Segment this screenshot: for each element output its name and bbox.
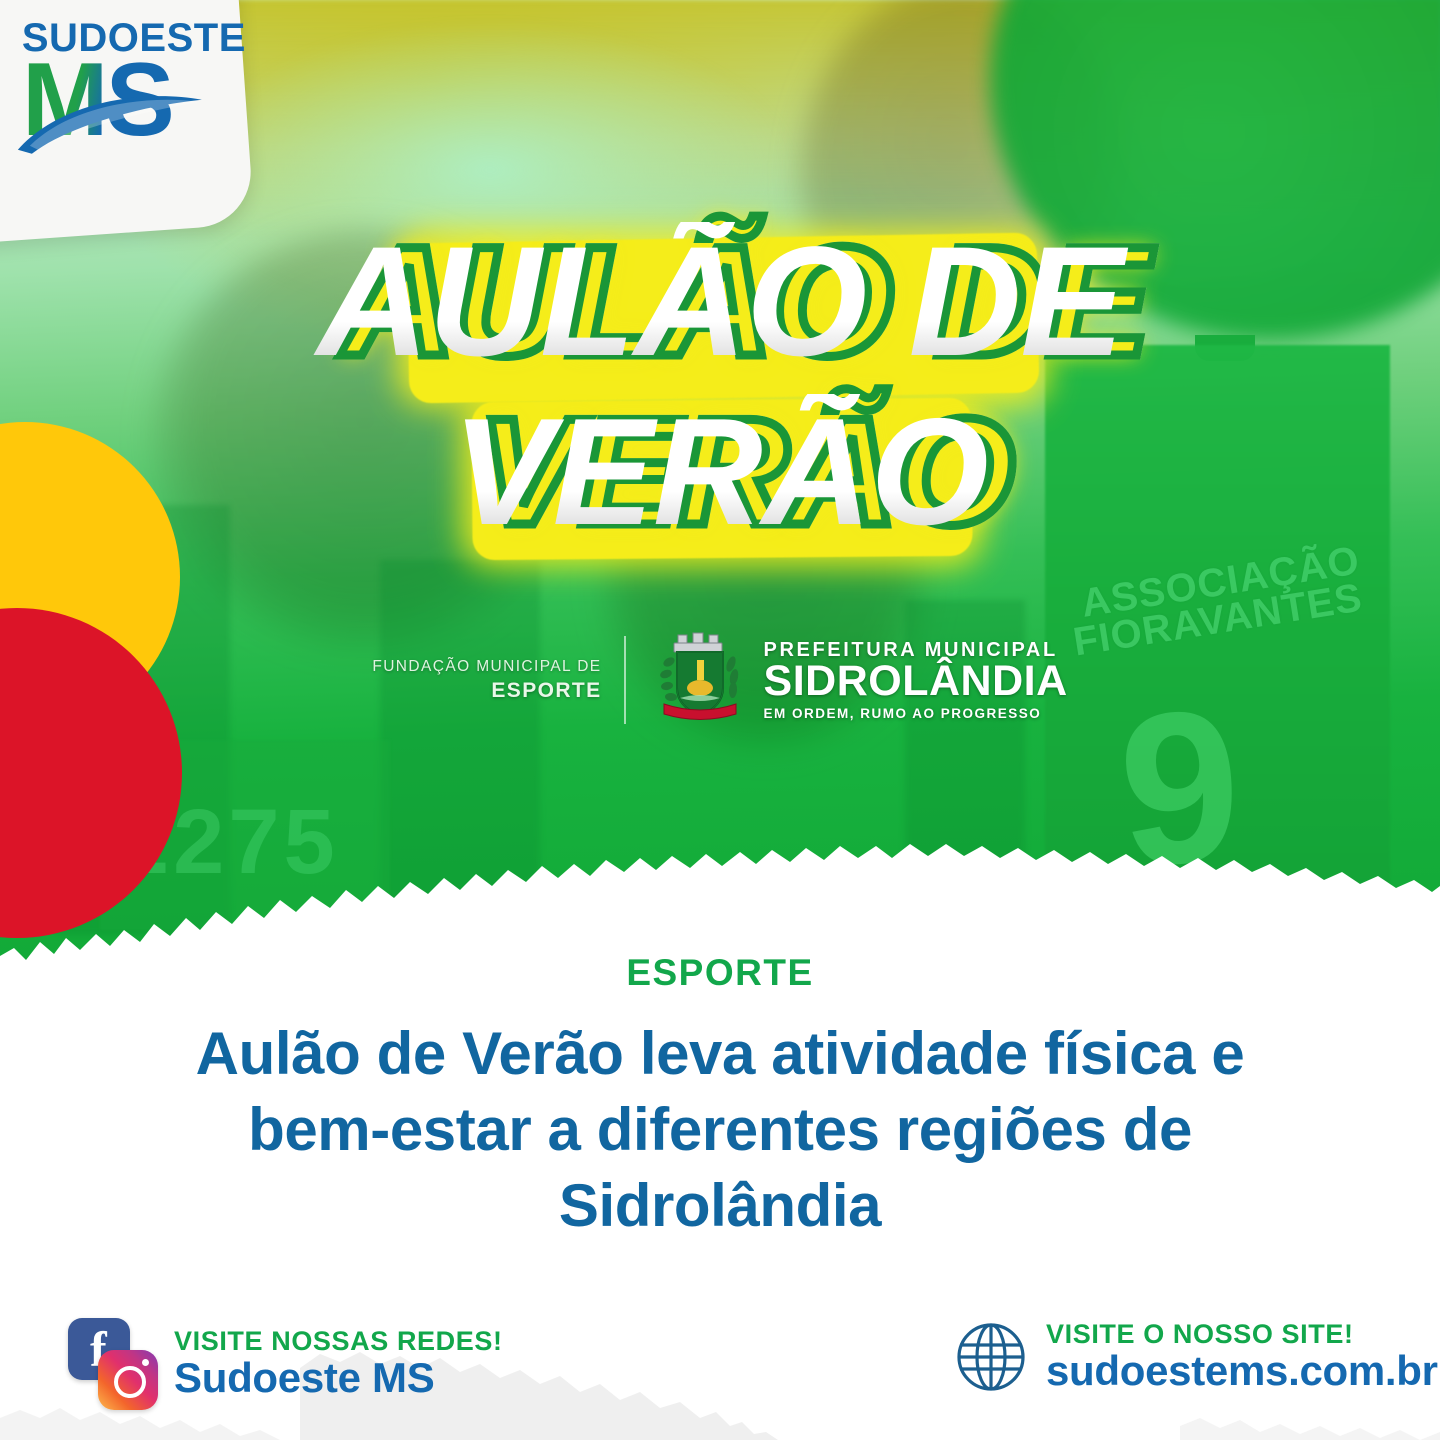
foundation-line-2: ESPORTE: [372, 679, 601, 703]
article-kicker: ESPORTE: [0, 952, 1440, 994]
logo-content: SUDOESTE MS: [22, 18, 246, 164]
title-line-2: VERÃO: [426, 394, 1014, 562]
website-call-to-action: VISITE O NOSSO SITE!: [1046, 1321, 1438, 1349]
city-motto: EM ORDEM, RUMO AO PROGRESSO: [764, 706, 1068, 721]
social-media-block[interactable]: f VISITE NOSSAS REDES! Sudoeste MS: [62, 1316, 503, 1412]
city-hall-logo: PREFEITURA MUNICIPAL SIDROLÂNDIA EM ORDE…: [764, 639, 1068, 721]
logo-divider: [624, 636, 626, 724]
sports-foundation-logo: FUNDAÇÃO MUNICIPAL DE ESPORTE: [372, 658, 623, 703]
social-handle: Sudoeste MS: [174, 1357, 503, 1400]
title-line-2-row: VERÃO VERÃO: [0, 394, 1440, 562]
social-text: VISITE NOSSAS REDES! Sudoeste MS: [174, 1328, 503, 1400]
institutional-logo-bar: FUNDAÇÃO MUNICIPAL DE ESPORTE: [0, 630, 1440, 730]
logo-swoosh-icon: [16, 84, 206, 156]
footer-bar: f VISITE NOSSAS REDES! Sudoeste MS: [0, 1300, 1440, 1440]
title-line-1-row: AULÃO DE AULÃO DE: [0, 222, 1440, 394]
website-block[interactable]: VISITE O NOSSO SITE! sudoestems.com.br: [952, 1318, 1438, 1396]
website-text: VISITE O NOSSO SITE! sudoestems.com.br: [1046, 1321, 1438, 1393]
logo-wordmark-ms-wrap: MS: [22, 54, 202, 164]
sidrolandia-coat-of-arms-icon: [652, 630, 748, 730]
main-title: AULÃO DE AULÃO DE VERÃO VERÃO: [0, 222, 1440, 562]
title-line-1: AULÃO DE: [291, 222, 1150, 394]
article-headline: Aulão de Verão leva atividade física e b…: [145, 1016, 1295, 1245]
city-line-2: SIDROLÂNDIA: [764, 660, 1068, 704]
social-media-poster: ASSOCIAÇÃO FIORAVANTES 9 2275 AULÃO DE A…: [0, 0, 1440, 1440]
sudoeste-ms-logo-badge[interactable]: SUDOESTE MS: [0, 0, 254, 244]
globe-icon[interactable]: [952, 1318, 1030, 1396]
foundation-line-1: FUNDAÇÃO MUNICIPAL DE: [372, 658, 601, 676]
social-icons-group: f: [62, 1316, 158, 1412]
social-call-to-action: VISITE NOSSAS REDES!: [174, 1328, 503, 1356]
website-url: sudoestems.com.br: [1046, 1350, 1438, 1393]
instagram-icon[interactable]: [98, 1350, 158, 1410]
